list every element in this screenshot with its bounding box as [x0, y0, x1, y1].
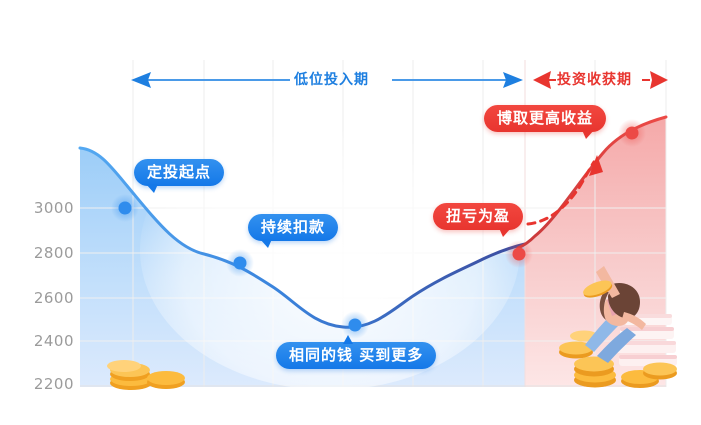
callout-buy-more[interactable]: 相同的钱 买到更多: [276, 342, 436, 369]
chart-canvas: 3000 2800 2600 2400 2200 低位投入期 投资收获期 定投起…: [0, 0, 701, 425]
y-tick-label: 2600: [28, 289, 74, 307]
callout-buy-more-label: 相同的钱 买到更多: [289, 348, 423, 363]
callout-higher-return[interactable]: 博取更高收益: [484, 105, 606, 132]
callout-higher-return-label: 博取更高收益: [497, 111, 593, 126]
period-label-low-entry: 低位投入期: [294, 73, 369, 87]
data-point-breakeven[interactable]: [505, 240, 533, 268]
callout-turn-profit-label: 扭亏为盈: [446, 209, 510, 224]
y-tick-label: 2800: [28, 244, 74, 262]
period-label-harvest: 投资收获期: [557, 73, 632, 87]
y-tick-label: 2400: [28, 332, 74, 350]
y-axis: 3000 2800 2600 2400 2200: [24, 0, 74, 425]
callout-tail-icon: [146, 184, 158, 193]
y-tick-label: 2200: [28, 375, 74, 393]
data-point-peak[interactable]: [618, 119, 646, 147]
callout-tail-icon: [343, 335, 353, 344]
callout-tail-icon: [260, 239, 272, 248]
callout-tail-icon: [499, 228, 511, 237]
callout-tail-icon: [582, 130, 594, 139]
data-point-start[interactable]: [111, 194, 139, 222]
callout-turn-profit[interactable]: 扭亏为盈: [433, 203, 523, 230]
callout-keep-deducting[interactable]: 持续扣款: [248, 214, 338, 241]
callout-keep-deducting-label: 持续扣款: [261, 220, 325, 235]
callout-start-point[interactable]: 定投起点: [134, 159, 224, 186]
callout-start-point-label: 定投起点: [147, 165, 211, 180]
y-tick-label: 3000: [28, 199, 74, 217]
data-point-deduction[interactable]: [226, 249, 254, 277]
